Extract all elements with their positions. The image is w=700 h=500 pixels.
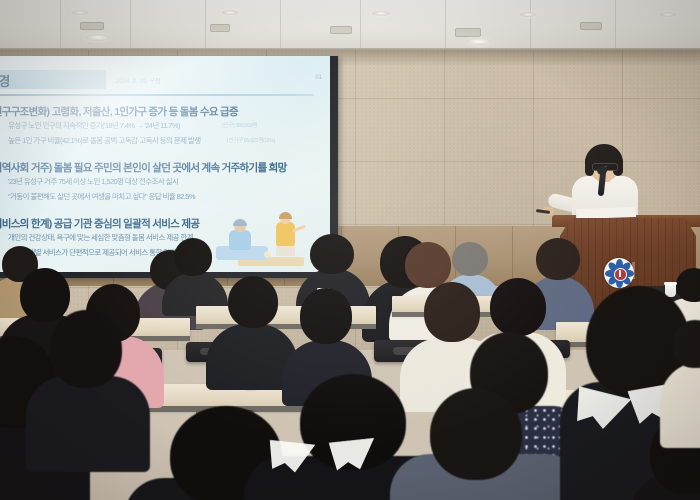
slide-section-heading: (인구구조변화) 고령화, 저출산, 1인가구 증가 등 돌봄 수요 급증	[0, 104, 238, 119]
district-emblem-icon	[604, 258, 634, 288]
ceiling-light	[85, 34, 111, 41]
projection-screen: 추진배경 2024. 9. 10. 구청 01 (인구구조변화) 고령화, 저출…	[0, 56, 330, 272]
slide-page-number: 01	[315, 75, 322, 81]
slide-bullet: "거동이 불편해도 살던 곳에서 여생을 마치고 싶다" 응답 비율 82.5%	[8, 191, 195, 202]
ceiling-vent	[580, 22, 602, 30]
ceiling-vent	[330, 26, 352, 34]
ceiling-light	[222, 10, 238, 15]
slide-section-heading: (서비스의 한계) 공급 기관 중심의 일괄적 서비스 제공	[0, 216, 199, 231]
slide-bullet: 높은 1인 가구 비율(42.1%)로 돌봄 공백·고독감·고독사 등의 문제 …	[8, 135, 201, 146]
ceiling-vent	[80, 22, 104, 30]
slide-bullet: 유성구 노인 인구의 지속적인 증가('18년 7.4% → '24년 11.7…	[8, 120, 180, 131]
conference-room-photo: 추진배경 2024. 9. 10. 구청 01 (인구구조변화) 고령화, 저출…	[0, 0, 700, 500]
slide-subtitle: 2024. 9. 10. 구청	[116, 76, 160, 85]
microphone-head-icon	[597, 166, 607, 175]
slide-illustration	[208, 200, 326, 272]
ceiling-light	[466, 38, 492, 45]
ceiling-light	[520, 12, 536, 17]
ceiling-light	[72, 10, 88, 15]
slide-bullet: '23년 유성구 거주 75세 이상 노인 1,520명 대상 전수조사 실시	[8, 176, 178, 187]
slide-bullet: 개인의 건강상태, 욕구에 맞는 세심한 맞춤형 돌봄 서비스 제공 한계	[8, 232, 193, 243]
slide-divider	[0, 94, 314, 96]
slide-title: 추진배경	[0, 71, 10, 90]
speaker-notes-paper	[576, 207, 636, 219]
slide-title-bar	[0, 70, 106, 89]
slide-faint-note: (인구) 389,559명	[222, 121, 257, 129]
ceiling-light	[660, 12, 676, 17]
slide-section-heading: (지역사회 거주) 돌봄 필요 주민의 본인이 살던 곳에서 계속 거주하기를 …	[0, 160, 287, 175]
ceiling	[0, 0, 700, 52]
slide-faint-note: 1인가구 65,621명(11%)	[226, 136, 275, 144]
projection-screen-frame: 추진배경 2024. 9. 10. 구청 01 (인구구조변화) 고령화, 저출…	[0, 56, 338, 278]
ceiling-vent	[210, 24, 230, 32]
ceiling-vent	[455, 28, 481, 37]
ceiling-light	[372, 11, 390, 16]
